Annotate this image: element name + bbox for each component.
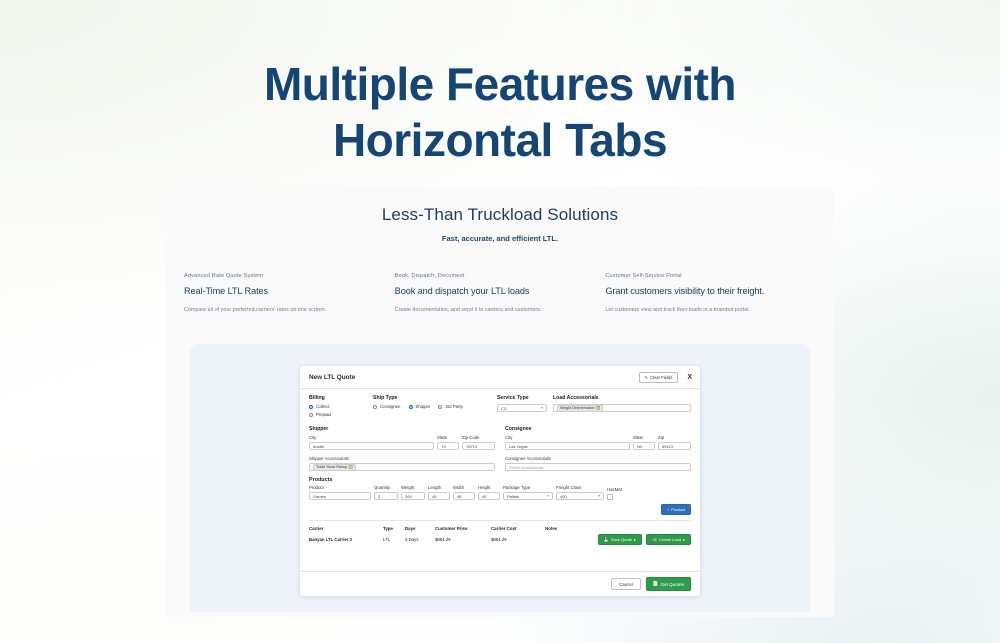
feature-headline: Real-Time LTL Rates: [184, 286, 381, 296]
shipper-zip-input[interactable]: 78713: [462, 442, 495, 450]
cell-carrier: Banyan LTL Carrier 2: [309, 537, 383, 542]
package-type-select[interactable]: Pallets ▾: [503, 492, 553, 500]
service-type-value: LTL: [501, 406, 508, 411]
modal-footer: Cancel 📄 Get Quotes: [300, 571, 700, 596]
remove-tag-icon[interactable]: ❎: [596, 406, 600, 410]
column-header-notes: Notes: [545, 526, 691, 531]
billing-option-prepaid[interactable]: Prepaid: [309, 412, 373, 417]
add-product-button[interactable]: + Product: [661, 504, 691, 515]
accessorial-tag-label: Trade Show Pickup: [316, 465, 347, 469]
get-quotes-button[interactable]: 📄 Get Quotes: [646, 577, 691, 591]
cell-type: LTL: [383, 537, 405, 542]
service-type-select[interactable]: LTL ▾: [497, 404, 547, 412]
ship-type-option-3rd-party[interactable]: 3rd Party: [438, 404, 462, 409]
chevron-down-icon: ▾: [598, 494, 600, 498]
document-icon: 📄: [653, 581, 659, 587]
billing-option-label: Prepaid: [316, 412, 331, 417]
save-quote-button[interactable]: 💾 Save Quote ▸: [598, 534, 642, 545]
create-load-button[interactable]: 🚚 Create Load ▸: [646, 534, 691, 545]
pencil-icon: ✎: [645, 375, 648, 380]
feature-columns: Advanced Rate Quote System Real-Time LTL…: [184, 273, 816, 313]
ship-type-group: Ship Type Consignee Shipper 3rd Party: [373, 395, 497, 412]
service-type-group: Service Type LTL ▾: [497, 395, 547, 412]
page-title-line-1: Multiple Features with: [0, 56, 1000, 112]
close-icon[interactable]: X: [687, 374, 692, 381]
get-quotes-label: Get Quotes: [661, 582, 685, 587]
chevron-right-icon: ▸: [634, 537, 636, 542]
create-load-label: Create Load: [659, 537, 681, 542]
save-icon: 💾: [604, 537, 609, 542]
accessorial-tag[interactable]: Trade Show Pickup ❎: [313, 464, 356, 471]
hazmat-header: HazMat: [607, 487, 622, 492]
product-input[interactable]: Games: [309, 492, 371, 500]
consignee-accessorials-label: Consignee Accessorials: [505, 456, 691, 461]
cell-days: 3 Days: [405, 537, 435, 542]
truck-icon: 🚚: [652, 537, 657, 542]
freight-class-select[interactable]: 400 ▾: [556, 492, 604, 500]
consignee-group: Consignee City Las Vegas State NV Zip 89…: [505, 426, 691, 450]
length-input[interactable]: 48: [428, 492, 450, 500]
ltl-quote-modal: New LTL Quote ✎ Clear Fields X Billing C…: [300, 366, 700, 596]
shipper-zip-label: Zip Code: [462, 435, 495, 440]
shipper-accessorials-group: Shipper Accessorials Trade Show Pickup ❎: [309, 456, 495, 471]
shipper-city-input[interactable]: Austin: [309, 442, 434, 450]
freight-class-header: Freight Class: [556, 485, 604, 490]
shipper-state-label: State: [437, 435, 459, 440]
feature-subtext: Compare all of your preferred carriers' …: [184, 307, 381, 313]
quantity-header: Quantity: [374, 485, 398, 490]
products-section-title: Products: [309, 477, 691, 483]
chevron-right-icon: ▸: [683, 537, 685, 542]
feature-column-1: Advanced Rate Quote System Real-Time LTL…: [184, 273, 395, 313]
radio-icon[interactable]: [438, 405, 442, 409]
add-product-label: Product: [671, 507, 685, 512]
consignee-state-input[interactable]: NV: [633, 442, 655, 450]
radio-icon[interactable]: [409, 405, 413, 409]
accessorial-tag-label: Weight Determination: [560, 406, 595, 410]
consignee-accessorials-input[interactable]: Select Accessorials: [505, 463, 691, 471]
save-quote-label: Save Quote: [611, 537, 632, 542]
consignee-label: Consignee: [505, 426, 691, 432]
consignee-city-label: City: [505, 435, 630, 440]
cell-carrier-cost: $884.39: [491, 537, 545, 542]
quantity-input[interactable]: 2: [374, 492, 398, 500]
column-header-type: Type: [383, 526, 405, 531]
column-header-days: Days: [405, 526, 435, 531]
feature-headline: Book and dispatch your LTL loads: [395, 286, 592, 296]
column-header-carrier: Carrier: [309, 526, 383, 531]
hazmat-checkbox[interactable]: [607, 494, 613, 500]
clear-fields-button[interactable]: ✎ Clear Fields: [639, 372, 679, 383]
shipper-accessorials-label: Shipper Accessorials: [309, 456, 495, 461]
section-divider: [309, 520, 691, 521]
feature-eyebrow: Advanced Rate Quote System: [184, 273, 381, 279]
chevron-down-icon: ▾: [547, 494, 549, 498]
shipper-label: Shipper: [309, 426, 495, 432]
shipper-city-label: City: [309, 435, 434, 440]
shipper-group: Shipper City Austin State TX Zip Code 78…: [309, 426, 495, 450]
feature-column-3: Customer Self-Service Portal Grant custo…: [605, 273, 816, 313]
freight-class-value: 400: [560, 494, 567, 499]
billing-option-collect[interactable]: Collect: [309, 404, 373, 409]
chevron-down-icon: ▾: [541, 406, 543, 410]
height-header: Height: [478, 485, 500, 490]
ship-type-option-shipper[interactable]: Shipper: [409, 404, 431, 409]
ship-type-option-label: 3rd Party: [445, 404, 462, 409]
panel-header: Less-Than Truckload Solutions Fast, accu…: [166, 187, 834, 243]
service-type-label: Service Type: [497, 395, 547, 401]
remove-tag-icon[interactable]: ❎: [349, 465, 353, 469]
load-accessorials-group: Load Accessorials Weight Determination ❎: [553, 395, 691, 412]
consignee-zip-input[interactable]: 89113: [658, 442, 691, 450]
radio-icon[interactable]: [373, 405, 377, 409]
modal-header: New LTL Quote ✎ Clear Fields X: [300, 366, 700, 389]
modal-body: Billing Collect Prepaid Ship Type Consig…: [300, 389, 700, 545]
weight-input[interactable]: 200: [401, 492, 425, 500]
consignee-state-label: State: [633, 435, 655, 440]
width-input[interactable]: 48: [453, 492, 475, 500]
consignee-accessorials-group: Consignee Accessorials Select Accessoria…: [505, 456, 691, 471]
clear-fields-label: Clear Fields: [650, 375, 672, 380]
plus-icon: +: [667, 507, 669, 512]
table-row[interactable]: Banyan LTL Carrier 2 LTL 3 Days $884.39 …: [309, 534, 691, 545]
feature-eyebrow: Book, Dispatch, Document: [395, 273, 592, 279]
shipper-state-input[interactable]: TX: [437, 442, 459, 450]
column-header-customer-price: Customer Price: [435, 526, 491, 531]
consignee-city-input[interactable]: Las Vegas: [505, 442, 630, 450]
billing-group: Billing Collect Prepaid: [309, 395, 373, 420]
feature-headline: Grant customers visibility to their frei…: [605, 286, 802, 296]
panel-subheading: Fast, accurate, and efficient LTL.: [166, 234, 834, 243]
ship-type-label: Ship Type: [373, 395, 497, 401]
cancel-button[interactable]: Cancel: [611, 578, 641, 590]
billing-label: Billing: [309, 395, 373, 401]
accessorial-tag[interactable]: Weight Determination ❎: [557, 405, 603, 412]
load-accessorials-input[interactable]: Weight Determination ❎: [553, 404, 691, 412]
length-header: Length: [428, 485, 450, 490]
ship-type-option-consignee[interactable]: Consignee: [373, 404, 401, 409]
billing-option-label: Collect: [316, 404, 329, 409]
load-accessorials-label: Load Accessorials: [553, 395, 691, 401]
feature-subtext: Create documentation, and send it to car…: [395, 307, 592, 313]
width-header: Width: [453, 485, 475, 490]
ship-type-option-label: Consignee: [380, 404, 401, 409]
column-header-carrier-cost: Carrier Cost: [491, 526, 545, 531]
ship-type-option-label: Shipper: [416, 404, 431, 409]
feature-subtext: Let customers view and track their loads…: [605, 307, 802, 313]
package-type-header: Package Type: [503, 485, 553, 490]
shipper-accessorials-input[interactable]: Trade Show Pickup ❎: [309, 463, 495, 471]
modal-title: New LTL Quote: [309, 374, 639, 381]
product-header: Product: [309, 485, 371, 490]
consignee-zip-label: Zip: [658, 435, 691, 440]
page-title-line-2: Horizontal Tabs: [0, 112, 1000, 168]
height-input[interactable]: 48: [478, 492, 500, 500]
cell-customer-price: $884.39: [435, 537, 491, 542]
results-table-header: Carrier Type Days Customer Price Carrier…: [309, 526, 691, 534]
feature-column-2: Book, Dispatch, Document Book and dispat…: [395, 273, 606, 313]
panel-heading: Less-Than Truckload Solutions: [166, 205, 834, 225]
feature-eyebrow: Customer Self-Service Portal: [605, 273, 802, 279]
radio-icon[interactable]: [309, 413, 313, 417]
weight-header: Weight: [401, 485, 425, 490]
radio-icon[interactable]: [309, 405, 313, 409]
package-type-value: Pallets: [507, 494, 519, 499]
page-title: Multiple Features with Horizontal Tabs: [0, 56, 1000, 168]
